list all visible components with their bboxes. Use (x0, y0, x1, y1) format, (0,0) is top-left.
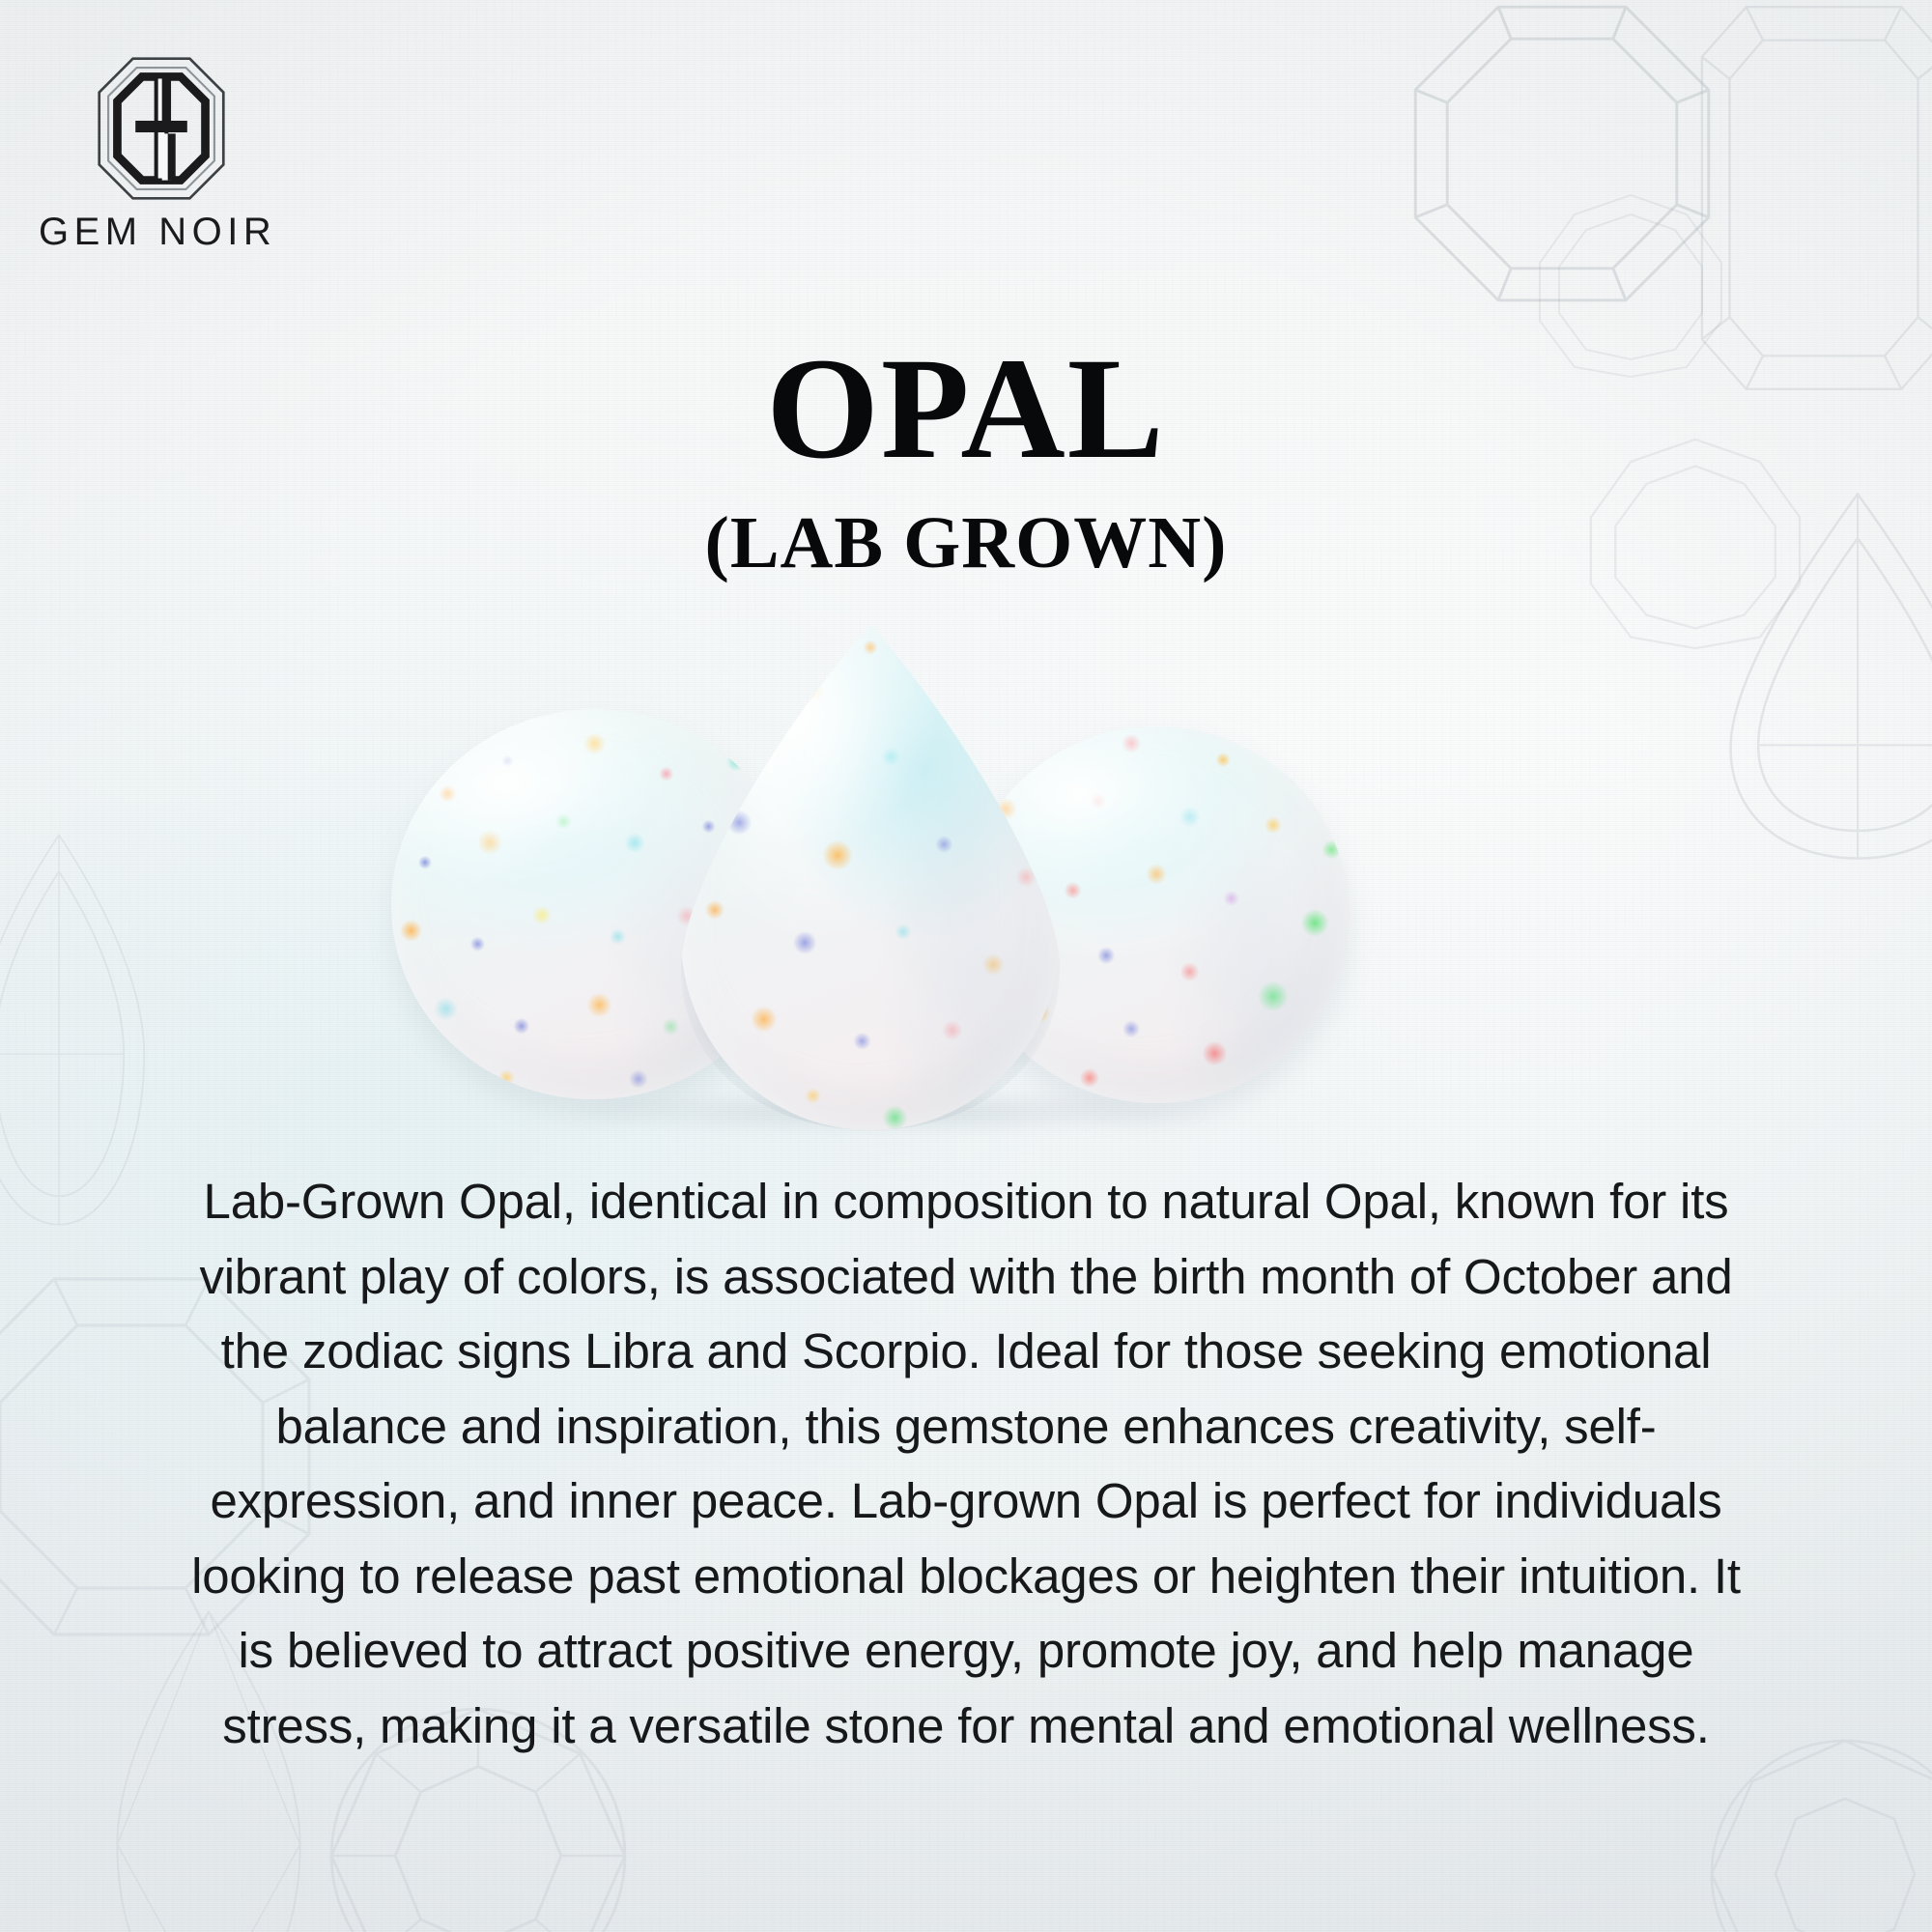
title-block: OPAL (LAB GROWN) (0, 336, 1932, 580)
marquise-cut-gem-outline (0, 827, 160, 1233)
gemstone-photo-group (391, 624, 1541, 1146)
brand-logo[interactable]: GEM NOIR (39, 56, 328, 254)
description-paragraph: Lab-Grown Opal, identical in composition… (174, 1164, 1758, 1763)
opal-fleck-layer (681, 624, 1060, 1130)
brand-wordmark: GEM NOIR (39, 211, 328, 254)
octagon-cut-gem-outline (1403, 0, 1721, 313)
poster-canvas: GEM NOIR OPAL (LAB GROWN) Lab-Grown Opal… (0, 0, 1932, 1932)
octagon-gem-monogram-icon (97, 56, 226, 201)
page-title: OPAL (0, 336, 1932, 481)
page-subtitle: (LAB GROWN) (0, 506, 1932, 580)
pear-cabochon (681, 624, 1060, 1130)
